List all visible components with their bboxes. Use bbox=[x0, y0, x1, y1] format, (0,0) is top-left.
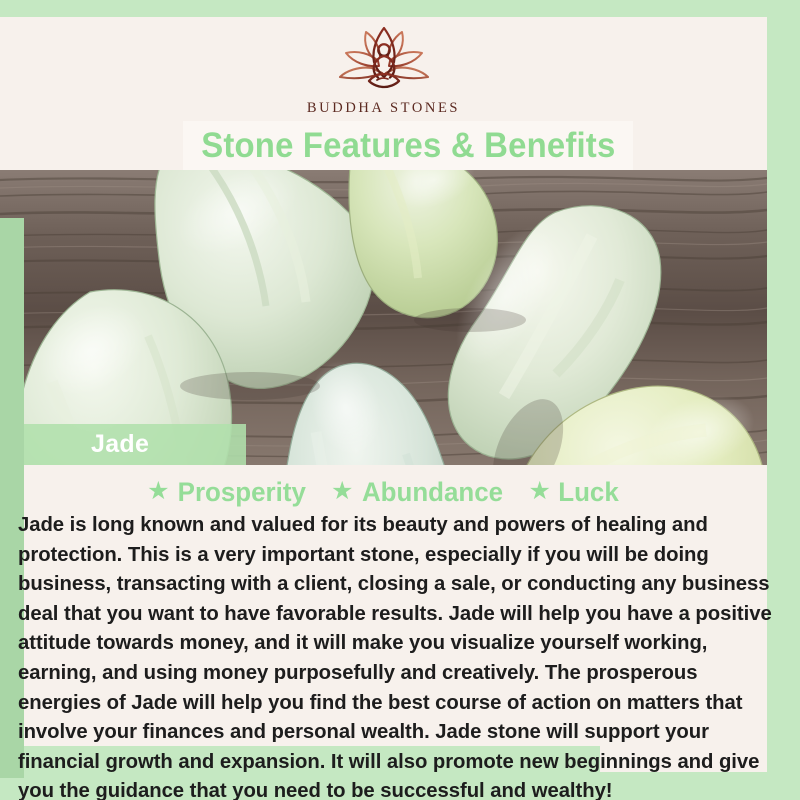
stone-description: Jade is long known and valued for its be… bbox=[18, 511, 782, 800]
decorative-top-green-band bbox=[0, 0, 800, 17]
hero-photo bbox=[0, 170, 767, 465]
section-title-banner: Stone Features & Benefits bbox=[183, 121, 633, 170]
infographic-canvas: BUDDHA STONES bbox=[0, 0, 800, 800]
brand-wordmark: BUDDHA STONES bbox=[307, 100, 460, 117]
star-icon: ★ bbox=[528, 479, 550, 504]
star-icon: ★ bbox=[331, 479, 353, 504]
lotus-meditation-icon bbox=[309, 25, 459, 95]
benefit-item-luck: ★ Luck bbox=[528, 477, 619, 508]
stone-name-badge: Jade bbox=[24, 424, 246, 465]
benefit-item-abundance: ★ Abundance bbox=[331, 477, 506, 508]
benefit-label: Prosperity bbox=[178, 477, 306, 508]
benefit-label: Luck bbox=[558, 477, 619, 508]
jade-stones-illustration bbox=[0, 170, 767, 465]
benefit-label: Abundance bbox=[362, 477, 503, 508]
stone-name-label: Jade bbox=[91, 430, 149, 459]
page-title: Stone Features & Benefits bbox=[201, 126, 615, 166]
benefit-item-prosperity: ★ Prosperity bbox=[147, 477, 309, 508]
benefits-row: ★ Prosperity ★ Abundance ★ Luck bbox=[0, 476, 767, 509]
star-icon: ★ bbox=[147, 479, 169, 504]
brand-logo: BUDDHA STONES bbox=[299, 25, 469, 117]
